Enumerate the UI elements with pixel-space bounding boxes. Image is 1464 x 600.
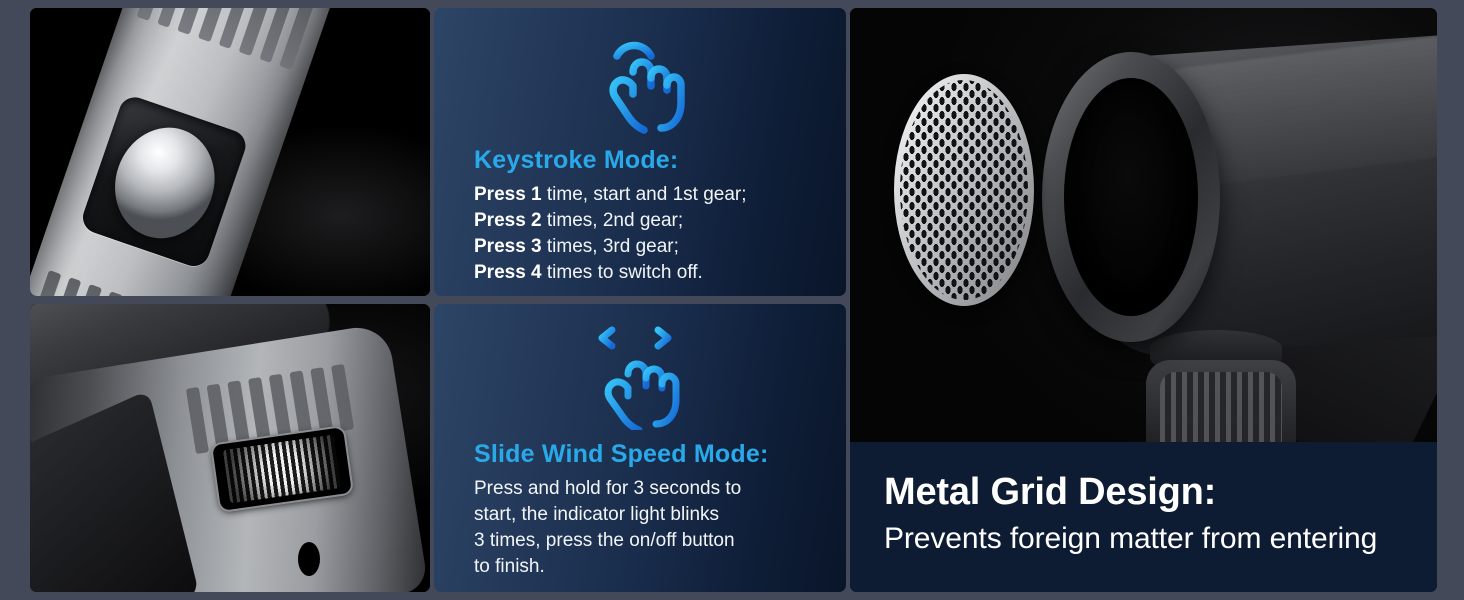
power-button-dome: [100, 114, 229, 252]
instruction-line-rest: times, 3rd gear;: [542, 236, 679, 257]
keystroke-mode-lines: Press 1 time, start and 1st gear; Press …: [474, 182, 806, 286]
instruction-line-bold: Press 3: [474, 236, 542, 257]
vent-fin: [227, 380, 250, 447]
keystroke-mode-card: Keystroke Mode: Press 1 time, start and …: [434, 8, 846, 296]
vent-fins-top: [121, 8, 334, 75]
slide-wind-speed-mode-heading: Slide Wind Speed Mode:: [474, 440, 806, 469]
instruction-line-bold: Press 4: [474, 262, 542, 283]
slide-wind-speed-mode-card: Slide Wind Speed Mode: Press and hold fo…: [434, 304, 846, 592]
vent-fin: [30, 270, 61, 296]
vent-fins-bottom: [30, 265, 219, 296]
button-recess: [79, 93, 250, 270]
feature-subtitle: Prevents foreign matter from entering: [884, 520, 1403, 558]
tap-hand-icon-wrap: [474, 30, 806, 134]
instruction-line: Press 3 times, 3rd gear;: [474, 234, 806, 260]
slide-switch-ribs: [223, 434, 341, 503]
instruction-line: start, the indicator light blinks: [474, 502, 806, 528]
metal-grid-feature-panel: Metal Grid Design: Prevents foreign matt…: [850, 8, 1437, 592]
slide-wind-speed-mode-lines: Press and hold for 3 seconds to start, t…: [474, 476, 806, 580]
metal-grid-disc: [894, 74, 1034, 306]
vent-fin: [269, 374, 292, 441]
slide-switch-photo: [30, 304, 430, 592]
air-inlet-opening: [1064, 78, 1198, 316]
vent-fin: [310, 367, 333, 434]
housing-port-hole: [298, 542, 320, 576]
keystroke-mode-heading: Keystroke Mode:: [474, 146, 806, 175]
instruction-line: Press 4 times to switch off.: [474, 260, 806, 286]
swipe-hand-icon: [588, 322, 692, 430]
vent-fin: [248, 377, 271, 444]
instruction-line-rest: times, 2nd gear;: [542, 210, 684, 231]
instruction-line: Press 2 times, 2nd gear;: [474, 208, 806, 234]
vent-fin: [207, 384, 230, 451]
instruction-line: 3 times, press the on/off button: [474, 528, 806, 554]
metal-grid-perforations: [900, 80, 1028, 300]
swipe-hand-icon-wrap: [474, 322, 806, 430]
power-button-photo: [30, 8, 430, 296]
metal-grid-caption: Metal Grid Design: Prevents foreign matt…: [850, 442, 1437, 592]
instruction-line-rest: times to switch off.: [542, 262, 703, 283]
instruction-line: to finish.: [474, 554, 806, 580]
instruction-line: Press and hold for 3 seconds to: [474, 476, 806, 502]
infographic-board: Keystroke Mode: Press 1 time, start and …: [0, 0, 1464, 600]
instruction-line-rest: time, start and 1st gear;: [542, 184, 747, 205]
instruction-line-bold: Press 2: [474, 210, 542, 231]
instruction-line: Press 1 time, start and 1st gear;: [474, 182, 806, 208]
tap-hand-icon: [591, 30, 689, 134]
instruction-line-bold: Press 1: [474, 184, 542, 205]
air-inlet-barrel: [1042, 52, 1220, 342]
vent-fin: [290, 370, 313, 437]
feature-title: Metal Grid Design:: [884, 470, 1403, 514]
